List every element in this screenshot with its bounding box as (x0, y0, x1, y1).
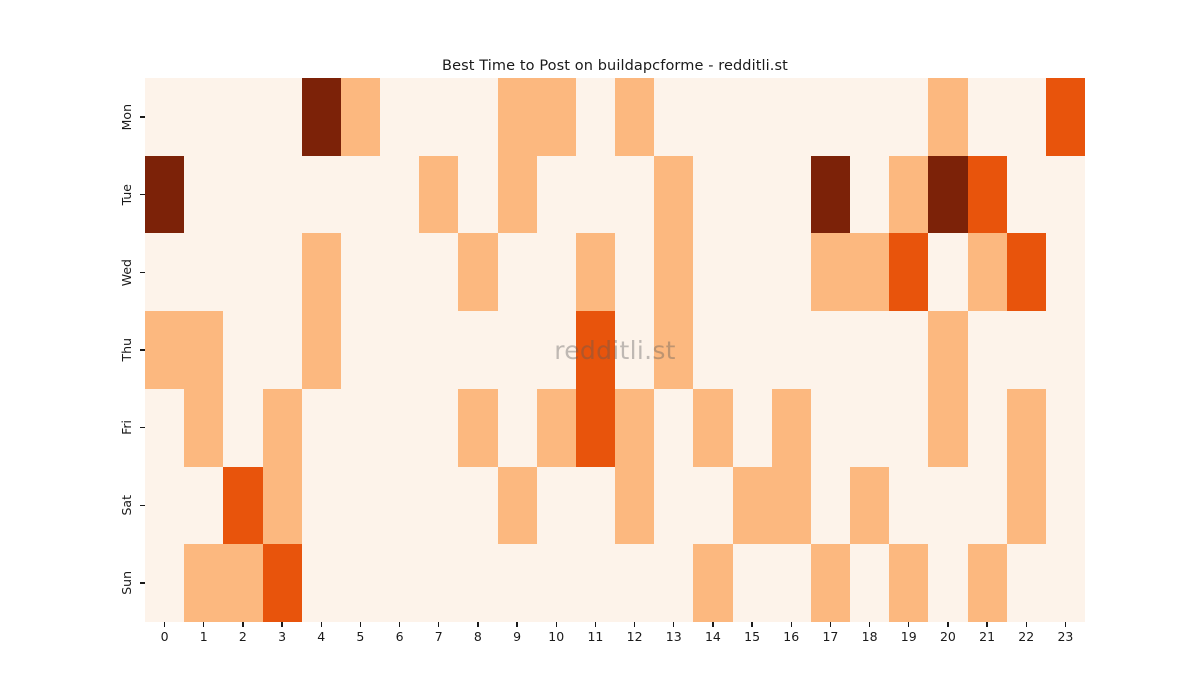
heatmap-cell (772, 311, 811, 389)
heatmap-cell (811, 389, 850, 467)
x-tick-8: 8 (458, 622, 497, 644)
heatmap-cell (223, 467, 262, 545)
x-tick-22: 22 (1007, 622, 1046, 644)
x-tick-16: 16 (772, 622, 811, 644)
heatmap-cell (850, 156, 889, 234)
heatmap-cell (341, 544, 380, 622)
x-tick-mark (791, 622, 792, 627)
heatmap-cell (1046, 156, 1085, 234)
heatmap-cell (1007, 389, 1046, 467)
heatmap-cell (654, 233, 693, 311)
heatmap-cell (968, 311, 1007, 389)
y-tick-thu: Thu (0, 311, 145, 389)
heatmap-cell (458, 311, 497, 389)
heatmap-cell (850, 311, 889, 389)
heatmap-cell (498, 311, 537, 389)
heatmap-cell (302, 544, 341, 622)
y-tick-label: Mon (121, 104, 134, 130)
x-tick-11: 11 (576, 622, 615, 644)
heatmap-cell (693, 389, 732, 467)
heatmap-cell (889, 78, 928, 156)
heatmap-cell (184, 156, 223, 234)
x-tick-3: 3 (263, 622, 302, 644)
x-tick-label: 10 (537, 631, 576, 644)
y-tick-sat: Sat (0, 467, 145, 545)
heatmap-cell (733, 156, 772, 234)
heatmap-cell (1007, 78, 1046, 156)
x-tick-mark (634, 622, 635, 627)
x-tick-label: 7 (419, 631, 458, 644)
heatmap-cell (380, 467, 419, 545)
x-tick-7: 7 (419, 622, 458, 644)
y-tick-tue: Tue (0, 156, 145, 234)
x-tick-23: 23 (1046, 622, 1085, 644)
heatmap-cell (654, 544, 693, 622)
heatmap-cell (654, 467, 693, 545)
y-tick-label: Sun (121, 571, 134, 595)
heatmap-cell (184, 467, 223, 545)
x-tick-mark (516, 622, 517, 627)
heatmap-cell (1007, 233, 1046, 311)
heatmap-cell (576, 544, 615, 622)
heatmap-cell (537, 311, 576, 389)
heatmap-cell (184, 233, 223, 311)
heatmap-cell (772, 233, 811, 311)
heatmap-cell (733, 467, 772, 545)
heatmap-cell (615, 544, 654, 622)
heatmap-cell (615, 389, 654, 467)
x-tick-label: 6 (380, 631, 419, 644)
heatmap-cell (341, 233, 380, 311)
heatmap-cell (458, 78, 497, 156)
heatmap-cell (733, 544, 772, 622)
heatmap-cell (145, 544, 184, 622)
heatmap-cell (968, 389, 1007, 467)
heatmap-cell (380, 389, 419, 467)
heatmap-cell (615, 78, 654, 156)
heatmap-cell (341, 467, 380, 545)
heatmap-cell (968, 78, 1007, 156)
x-tick-label: 3 (263, 631, 302, 644)
heatmap-cell (733, 78, 772, 156)
heatmap-cell (733, 311, 772, 389)
heatmap-cell (928, 156, 967, 234)
heatmap-cell (772, 78, 811, 156)
x-tick-label: 8 (458, 631, 497, 644)
heatmap-cell (223, 311, 262, 389)
x-tick-mark (556, 622, 557, 627)
x-tick-21: 21 (968, 622, 1007, 644)
y-tick-sun: Sun (0, 544, 145, 622)
heatmap-cell (733, 233, 772, 311)
heatmap-cell (576, 233, 615, 311)
heatmap-cell (537, 544, 576, 622)
heatmap-cell (928, 78, 967, 156)
x-tick-mark (673, 622, 674, 627)
heatmap-cell (184, 389, 223, 467)
heatmap-cell (223, 233, 262, 311)
heatmap-cell (576, 156, 615, 234)
heatmap-cell (537, 389, 576, 467)
x-tick-label: 17 (811, 631, 850, 644)
chart-figure: Best Time to Post on buildapcforme - red… (0, 0, 1200, 700)
heatmap-cell (772, 467, 811, 545)
x-tick-label: 23 (1046, 631, 1085, 644)
heatmap-cell (850, 389, 889, 467)
x-tick-6: 6 (380, 622, 419, 644)
chart-title: Best Time to Post on buildapcforme - red… (145, 58, 1085, 74)
x-tick-label: 15 (733, 631, 772, 644)
heatmap-cell (772, 544, 811, 622)
y-tick-label: Fri (121, 420, 134, 435)
y-tick-label: Thu (121, 338, 134, 361)
x-tick-label: 0 (145, 631, 184, 644)
x-tick-17: 17 (811, 622, 850, 644)
x-tick-4: 4 (302, 622, 341, 644)
heatmap-cell (1046, 78, 1085, 156)
heatmap-cell (1007, 467, 1046, 545)
heatmap-cell (889, 467, 928, 545)
heatmap-cell (458, 156, 497, 234)
heatmap-cell (263, 78, 302, 156)
heatmap-cell (223, 389, 262, 467)
heatmap-cell (928, 233, 967, 311)
x-tick-label: 16 (772, 631, 811, 644)
heatmap-cell (1046, 467, 1085, 545)
x-tick-14: 14 (693, 622, 732, 644)
heatmap-cell (341, 389, 380, 467)
heatmap-cell (693, 233, 732, 311)
heatmap-cell (419, 156, 458, 234)
x-tick-2: 2 (223, 622, 262, 644)
x-tick-label: 4 (302, 631, 341, 644)
heatmap-cell (811, 156, 850, 234)
heatmap-cell (263, 389, 302, 467)
x-tick-mark (203, 622, 204, 627)
x-tick-label: 1 (184, 631, 223, 644)
x-tick-15: 15 (733, 622, 772, 644)
x-tick-mark (1065, 622, 1066, 627)
x-tick-label: 19 (889, 631, 928, 644)
heatmap-cell (145, 233, 184, 311)
x-tick-mark (869, 622, 870, 627)
heatmap-cell (302, 389, 341, 467)
heatmap-cell (498, 156, 537, 234)
heatmap-cell (654, 311, 693, 389)
x-tick-label: 21 (968, 631, 1007, 644)
heatmap-cell (693, 467, 732, 545)
x-tick-19: 19 (889, 622, 928, 644)
heatmap-cell (889, 311, 928, 389)
heatmap-cell (145, 389, 184, 467)
heatmap-cell (145, 467, 184, 545)
heatmap-cell (145, 156, 184, 234)
y-tick-label: Wed (121, 259, 134, 286)
heatmap-cell (889, 544, 928, 622)
heatmap-cell (968, 467, 1007, 545)
heatmap-cell (341, 78, 380, 156)
heatmap-cell (223, 78, 262, 156)
heatmap-cell (1046, 389, 1085, 467)
x-tick-label: 18 (850, 631, 889, 644)
x-tick-label: 22 (1007, 631, 1046, 644)
heatmap-cell (850, 78, 889, 156)
x-tick-20: 20 (928, 622, 967, 644)
heatmap-cell (615, 233, 654, 311)
heatmap-cell (968, 544, 1007, 622)
heatmap-cell (263, 544, 302, 622)
x-tick-mark (1026, 622, 1027, 627)
heatmap-cell (615, 156, 654, 234)
y-tick-mon: Mon (0, 78, 145, 156)
heatmap-cell (302, 233, 341, 311)
x-tick-mark (360, 622, 361, 627)
heatmap-cell (811, 467, 850, 545)
y-tick-label: Tue (121, 184, 134, 205)
x-tick-mark (830, 622, 831, 627)
heatmap-cell (498, 233, 537, 311)
x-tick-label: 11 (576, 631, 615, 644)
x-tick-12: 12 (615, 622, 654, 644)
heatmap-cell (458, 544, 497, 622)
x-tick-10: 10 (537, 622, 576, 644)
x-tick-13: 13 (654, 622, 693, 644)
heatmap-cell (498, 389, 537, 467)
heatmap-cell (458, 467, 497, 545)
x-tick-mark (242, 622, 243, 627)
heatmap-grid (145, 78, 1085, 622)
heatmap-cell (263, 311, 302, 389)
heatmap-cell (928, 467, 967, 545)
heatmap-cell (184, 311, 223, 389)
x-tick-0: 0 (145, 622, 184, 644)
heatmap-cell (223, 156, 262, 234)
x-tick-label: 12 (615, 631, 654, 644)
x-tick-mark (477, 622, 478, 627)
x-tick-label: 2 (223, 631, 262, 644)
heatmap-cell (1007, 311, 1046, 389)
x-tick-5: 5 (341, 622, 380, 644)
heatmap-cell (537, 78, 576, 156)
x-tick-18: 18 (850, 622, 889, 644)
heatmap-cell (928, 544, 967, 622)
x-tick-mark (595, 622, 596, 627)
x-tick-label: 5 (341, 631, 380, 644)
heatmap-cell (341, 311, 380, 389)
heatmap-cell (576, 311, 615, 389)
heatmap-cell (772, 156, 811, 234)
heatmap-cell (811, 78, 850, 156)
heatmap-cell (498, 544, 537, 622)
heatmap-cell (889, 233, 928, 311)
heatmap-cell (498, 467, 537, 545)
x-tick-mark (438, 622, 439, 627)
heatmap-cell (380, 233, 419, 311)
heatmap-cell (693, 311, 732, 389)
heatmap-cell (654, 389, 693, 467)
heatmap-cell (263, 156, 302, 234)
heatmap-cell (419, 233, 458, 311)
heatmap-cell (145, 78, 184, 156)
heatmap-cell (615, 467, 654, 545)
heatmap-cell (968, 233, 1007, 311)
x-tick-mark (399, 622, 400, 627)
heatmap-cell (654, 78, 693, 156)
heatmap-cell (615, 311, 654, 389)
heatmap-cell (302, 311, 341, 389)
heatmap-cell (537, 156, 576, 234)
heatmap-cell (458, 389, 497, 467)
x-tick-mark (164, 622, 165, 627)
heatmap-cell (693, 156, 732, 234)
heatmap-cell (537, 233, 576, 311)
heatmap-cell (537, 467, 576, 545)
x-tick-label: 13 (654, 631, 693, 644)
heatmap-cell (1046, 544, 1085, 622)
heatmap-cell (811, 233, 850, 311)
heatmap-cell (458, 233, 497, 311)
y-axis: MonTueWedThuFriSatSun (0, 78, 145, 622)
heatmap-cell (576, 389, 615, 467)
heatmap-cell (1046, 233, 1085, 311)
heatmap-cell (772, 389, 811, 467)
heatmap-cell (968, 156, 1007, 234)
heatmap-cell (1007, 156, 1046, 234)
heatmap-cell (889, 156, 928, 234)
heatmap-cell (576, 78, 615, 156)
heatmap-cell (184, 544, 223, 622)
heatmap-cell (1007, 544, 1046, 622)
y-tick-fri: Fri (0, 389, 145, 467)
x-tick-mark (712, 622, 713, 627)
heatmap-cell (380, 544, 419, 622)
heatmap-cell (733, 389, 772, 467)
heatmap-cell (654, 156, 693, 234)
heatmap-cell (419, 389, 458, 467)
heatmap-cell (693, 78, 732, 156)
heatmap-cell (576, 467, 615, 545)
x-tick-mark (986, 622, 987, 627)
x-tick-label: 14 (693, 631, 732, 644)
heatmap-cell (145, 311, 184, 389)
heatmap-cell (928, 311, 967, 389)
heatmap-cell (380, 156, 419, 234)
x-axis: 01234567891011121314151617181920212223 (145, 622, 1085, 662)
heatmap-cell (184, 78, 223, 156)
heatmap-cell (341, 156, 380, 234)
y-tick-wed: Wed (0, 233, 145, 311)
heatmap-cell (850, 544, 889, 622)
heatmap-cell (380, 78, 419, 156)
heatmap-cell (498, 78, 537, 156)
heatmap-cell (302, 467, 341, 545)
heatmap-cell (263, 467, 302, 545)
heatmap-cell (419, 544, 458, 622)
heatmap-cell (302, 78, 341, 156)
heatmap-cell (811, 311, 850, 389)
x-tick-label: 20 (928, 631, 967, 644)
heatmap-cell (850, 467, 889, 545)
x-tick-mark (321, 622, 322, 627)
heatmap-cell (419, 78, 458, 156)
x-tick-1: 1 (184, 622, 223, 644)
x-tick-mark (751, 622, 752, 627)
y-tick-label: Sat (121, 495, 134, 516)
heatmap-cell (302, 156, 341, 234)
x-tick-9: 9 (498, 622, 537, 644)
heatmap-cell (928, 389, 967, 467)
heatmap-cell (223, 544, 262, 622)
heatmap-cell (889, 389, 928, 467)
heatmap-cell (693, 544, 732, 622)
heatmap-cell (419, 467, 458, 545)
heatmap-cell (263, 233, 302, 311)
heatmap-cell (850, 233, 889, 311)
x-tick-mark (908, 622, 909, 627)
heatmap-plot-area: redditli.st (145, 78, 1085, 622)
heatmap-cell (1046, 311, 1085, 389)
heatmap-cell (811, 544, 850, 622)
heatmap-cell (419, 311, 458, 389)
heatmap-cell (380, 311, 419, 389)
x-tick-label: 9 (498, 631, 537, 644)
x-tick-mark (947, 622, 948, 627)
x-tick-mark (281, 622, 282, 627)
